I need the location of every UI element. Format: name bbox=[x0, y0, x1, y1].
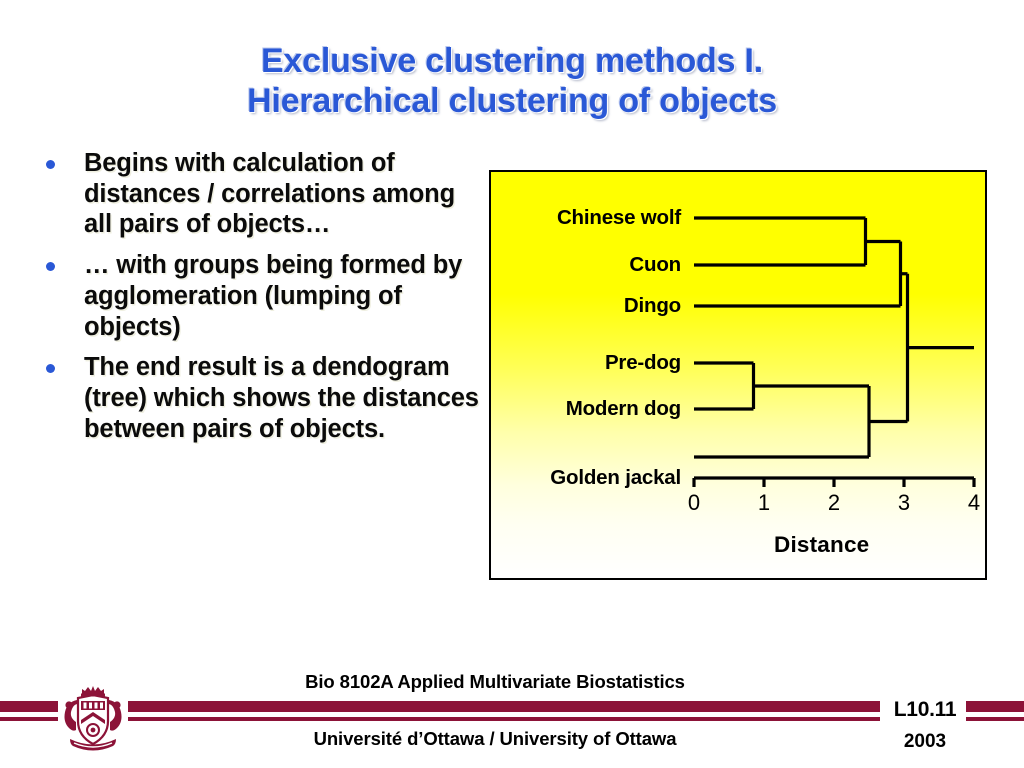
list-item-label: The end result is a dendogram (tree) whi… bbox=[84, 352, 482, 444]
bullet-dot-icon bbox=[46, 364, 55, 373]
list-item-label: Begins with calculation of distances / c… bbox=[84, 148, 482, 240]
list-item: … with groups being formed by agglomerat… bbox=[34, 250, 482, 342]
leaf-label-golden-jackal: Golden jackal bbox=[550, 466, 681, 490]
footer-year: 2003 bbox=[880, 731, 970, 753]
university-crest-icon bbox=[60, 678, 126, 758]
x-tick-label-4: 4 bbox=[968, 490, 980, 516]
page-title-line-2: Hierarchical clustering of objects bbox=[60, 82, 964, 122]
x-tick-label-3: 3 bbox=[898, 490, 910, 516]
x-tick-label-2: 2 bbox=[828, 490, 840, 516]
dendrogram-tree bbox=[491, 172, 985, 578]
footer-rule-thick bbox=[0, 701, 1024, 712]
x-tick-label-1: 1 bbox=[758, 490, 770, 516]
x-tick-label-0: 0 bbox=[688, 490, 700, 516]
leaf-label-pre-dog: Pre-dog bbox=[605, 351, 681, 375]
list-item: Begins with calculation of distances / c… bbox=[34, 148, 482, 240]
leaf-label-dingo: Dingo bbox=[624, 294, 681, 318]
bullet-dot-icon bbox=[46, 262, 55, 271]
bullet-list: Begins with calculation of distances / c… bbox=[34, 148, 482, 454]
list-item-label: … with groups being formed by agglomerat… bbox=[84, 250, 482, 342]
footer-course-label: Bio 8102A Applied Multivariate Biostatis… bbox=[130, 671, 860, 693]
bullet-dot-icon bbox=[46, 160, 55, 169]
leaf-label-chinese-wolf: Chinese wolf bbox=[557, 206, 681, 230]
x-axis-title: Distance bbox=[774, 532, 869, 558]
page-title: Exclusive clustering methods I. Hierarch… bbox=[60, 42, 964, 122]
footer-university-label: Université d’Ottawa / University of Otta… bbox=[130, 728, 860, 750]
list-item: The end result is a dendogram (tree) whi… bbox=[34, 352, 482, 444]
leaf-label-cuon: Cuon bbox=[629, 253, 681, 277]
leaf-label-modern-dog: Modern dog bbox=[566, 397, 681, 421]
footer-slide-code: L10.11 bbox=[880, 698, 970, 722]
page-title-line-1: Exclusive clustering methods I. bbox=[60, 42, 964, 82]
dendrogram-plot-area: Chinese wolf Cuon Dingo Pre-dog Modern d… bbox=[491, 172, 985, 578]
dendrogram-branches bbox=[694, 218, 974, 457]
dendrogram-figure: Chinese wolf Cuon Dingo Pre-dog Modern d… bbox=[489, 170, 987, 580]
footer-rule-thin bbox=[0, 717, 1024, 721]
dendrogram-x-axis bbox=[694, 478, 974, 487]
